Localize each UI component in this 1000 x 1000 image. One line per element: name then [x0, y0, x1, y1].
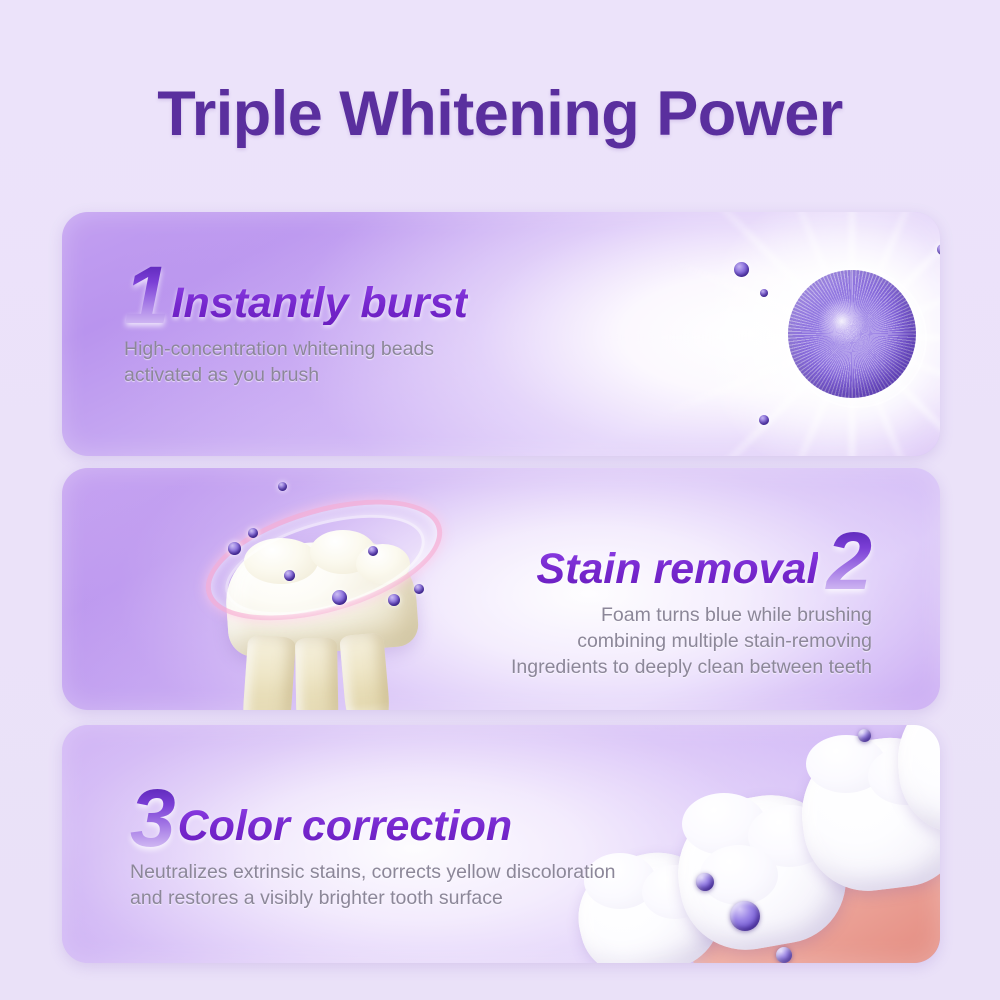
step-2-text: Stain removal 2 Foam turns blue while br…	[511, 528, 872, 681]
step-1-description-line: High-concentration whitening beads	[124, 336, 468, 362]
page-title: Triple Whitening Power	[0, 78, 1000, 150]
step-2-description-line: Ingredients to deeply clean between teet…	[511, 654, 872, 680]
step-2-heading: Stain removal	[536, 548, 818, 591]
step-1-heading-row: 1 Instantly burst	[124, 262, 468, 329]
step-3-description-line: and restores a visibly brighter tooth su…	[130, 885, 616, 911]
step-3-heading: Color correction	[178, 805, 513, 848]
step-1-description-line: activated as you brush	[124, 362, 468, 388]
step-3-text: 3 Color correction Neutralizes extrinsic…	[130, 785, 616, 911]
step-2-description-line: Foam turns blue while brushing	[511, 602, 872, 628]
step-1-number: 1	[124, 262, 172, 329]
step-1-description: High-concentration whitening beads activ…	[124, 336, 468, 388]
step-2-heading-row: Stain removal 2	[511, 528, 872, 595]
step-2-description: Foam turns blue while brushing combining…	[511, 602, 872, 680]
step-3-description: Neutralizes extrinsic stains, corrects y…	[130, 859, 616, 911]
step-3-heading-row: 3 Color correction	[130, 785, 616, 852]
step-3-description-line: Neutralizes extrinsic stains, corrects y…	[130, 859, 616, 885]
step-1-text: 1 Instantly burst High-concentration whi…	[124, 262, 468, 388]
step-3-number: 3	[130, 785, 178, 852]
infographic-page: Triple Whitening Power	[0, 0, 1000, 1000]
step-2-description-line: combining multiple stain-removing	[511, 628, 872, 654]
step-2-number: 2	[818, 528, 872, 595]
step-1-heading: Instantly burst	[172, 282, 468, 325]
